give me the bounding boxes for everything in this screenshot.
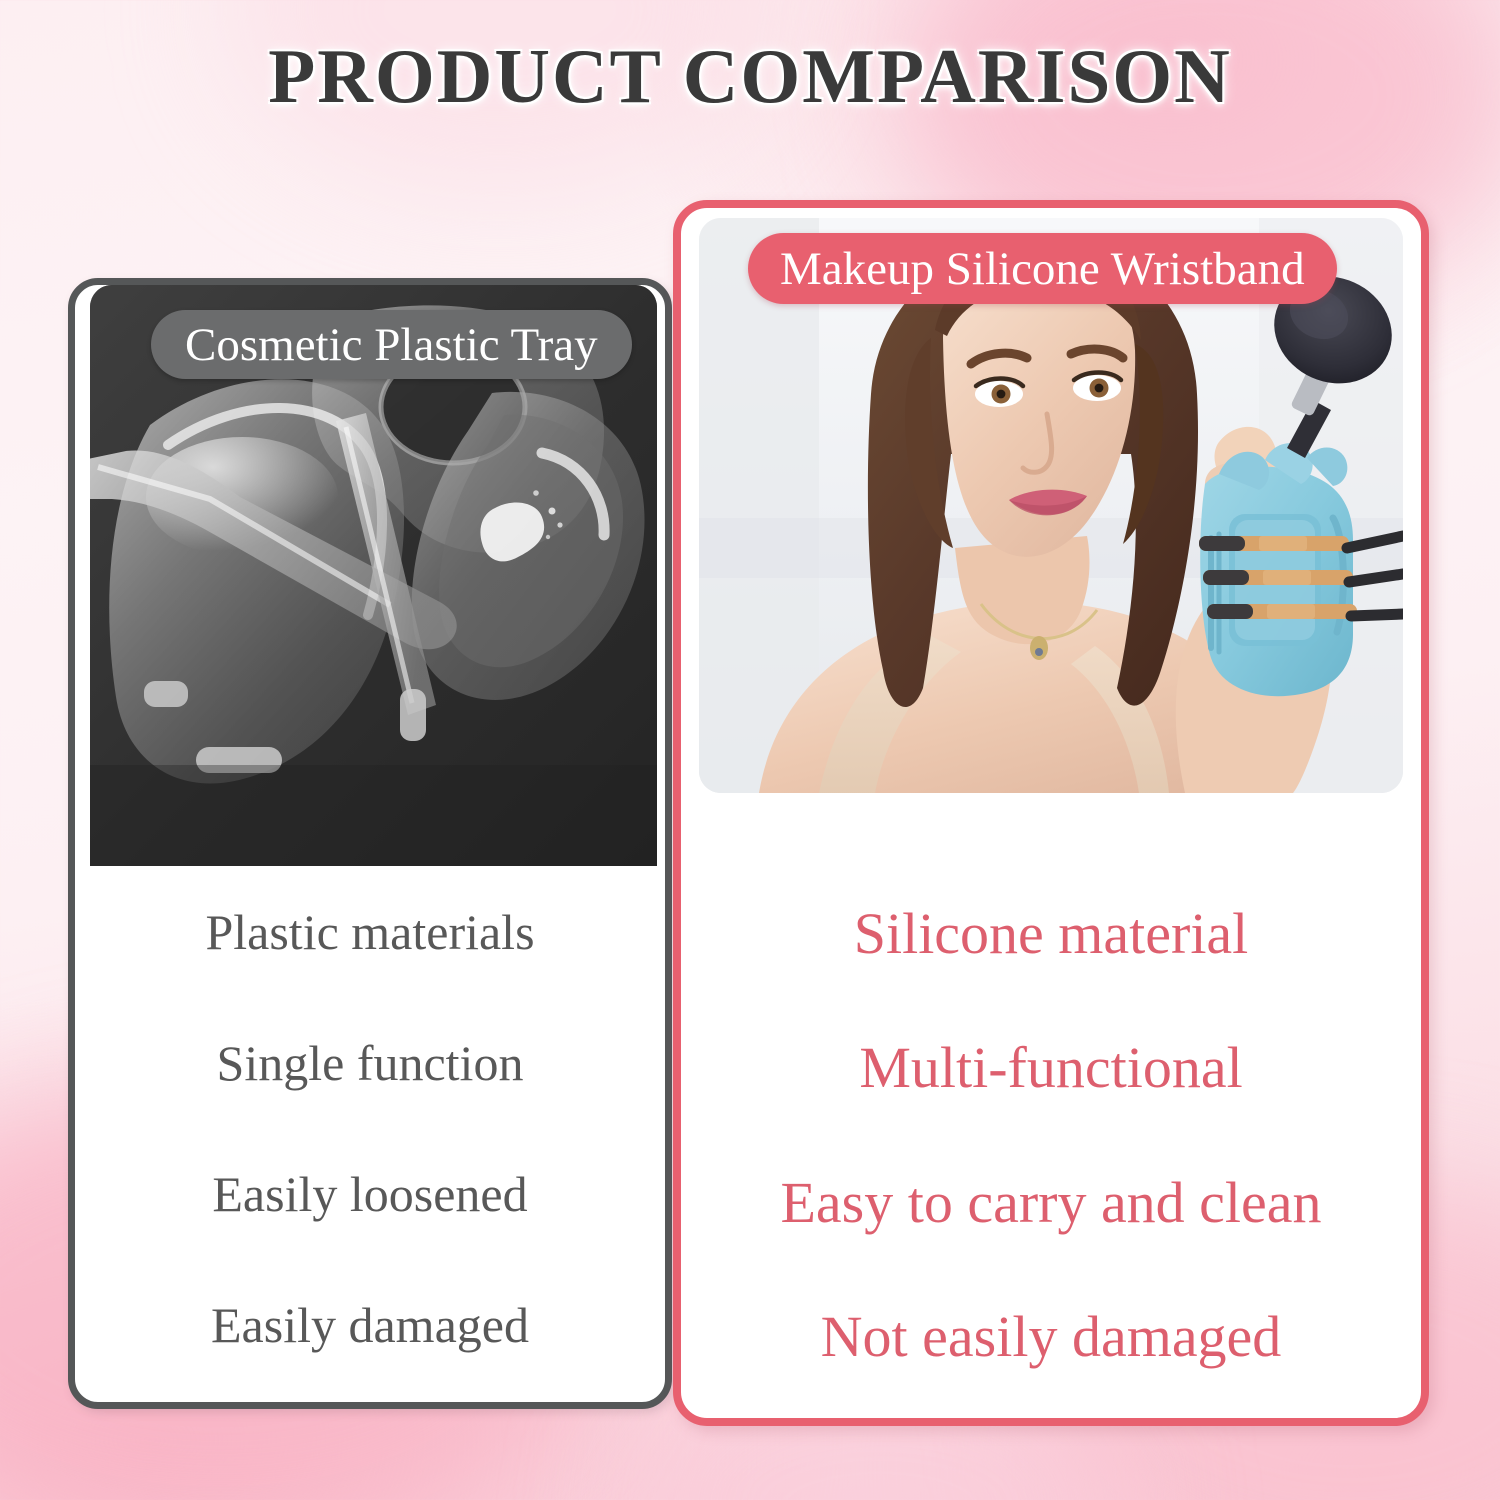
feature-item: Single function xyxy=(68,997,672,1128)
feature-item: Easily damaged xyxy=(68,1260,672,1391)
feature-item: Silicone material xyxy=(673,866,1429,1001)
feature-item: Multi-functional xyxy=(673,1001,1429,1136)
feature-list-left: Plastic materials Single function Easily… xyxy=(68,866,672,1409)
product-photo-silicone-wristband xyxy=(699,218,1403,793)
feature-item: Easy to carry and clean xyxy=(673,1135,1429,1270)
page-title: PRODUCT COMPARISON xyxy=(0,32,1500,121)
feature-list-right: Silicone material Multi-functional Easy … xyxy=(673,866,1429,1426)
feature-item: Easily loosened xyxy=(68,1129,672,1260)
feature-item: Plastic materials xyxy=(68,866,672,997)
product-badge-left: Cosmetic Plastic Tray xyxy=(151,310,632,379)
product-badge-right: Makeup Silicone Wristband xyxy=(748,233,1337,304)
feature-item: Not easily damaged xyxy=(673,1270,1429,1405)
